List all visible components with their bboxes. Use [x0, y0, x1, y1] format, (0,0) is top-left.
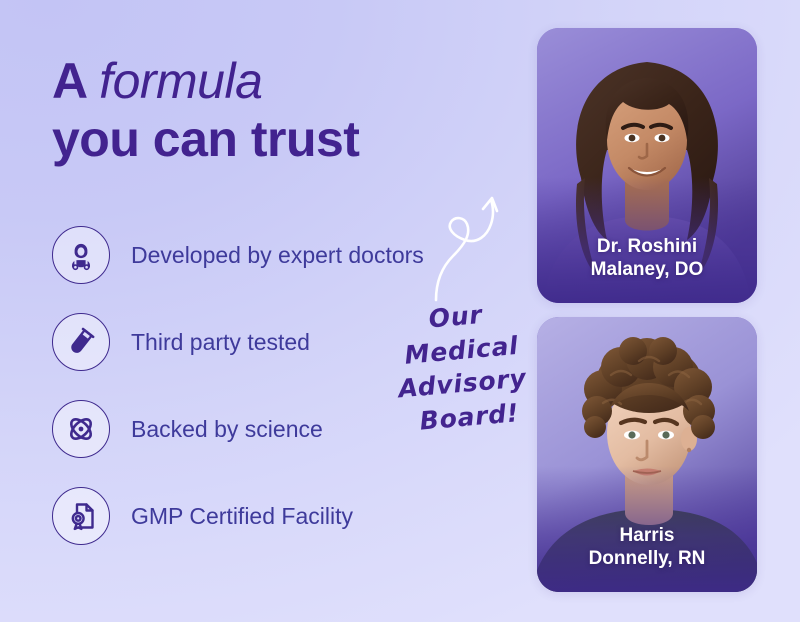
- advisor-name-line-2: Donnelly, RN: [537, 547, 757, 570]
- list-item-label: Backed by science: [131, 415, 323, 443]
- headline-word-italic: formula: [99, 53, 262, 109]
- advisor-card-1[interactable]: Dr. Roshini Malaney, DO: [537, 28, 757, 303]
- doctor-icon: [52, 226, 110, 284]
- advisor-name-line-2: Malaney, DO: [537, 258, 757, 281]
- list-item-label: Developed by expert doctors: [131, 241, 424, 269]
- promo-banner: A formula you can trust Developed by exp…: [0, 0, 800, 622]
- advisor-name-line-1: Harris: [537, 524, 757, 547]
- atom-icon: [52, 400, 110, 458]
- list-item-label: GMP Certified Facility: [131, 502, 353, 530]
- advisor-name-line-1: Dr. Roshini: [537, 235, 757, 258]
- page-title: A formula you can trust: [52, 55, 512, 165]
- headline-line-2: you can trust: [52, 113, 512, 165]
- annotation-text: Our Medical Advisory Board!: [384, 294, 535, 440]
- list-item-label: Third party tested: [131, 328, 310, 356]
- advisor-card-2[interactable]: Harris Donnelly, RN: [537, 317, 757, 592]
- advisor-name-1: Dr. Roshini Malaney, DO: [537, 235, 757, 281]
- list-item: Developed by expert doctors: [52, 224, 472, 286]
- certificate-icon: [52, 487, 110, 545]
- headline-block: A formula you can trust: [52, 55, 512, 165]
- advisor-name-2: Harris Donnelly, RN: [537, 524, 757, 570]
- test-tube-icon: [52, 313, 110, 371]
- headline-word-bold: A: [52, 53, 86, 109]
- list-item: GMP Certified Facility: [52, 485, 472, 547]
- curly-arrow-icon: [425, 188, 520, 303]
